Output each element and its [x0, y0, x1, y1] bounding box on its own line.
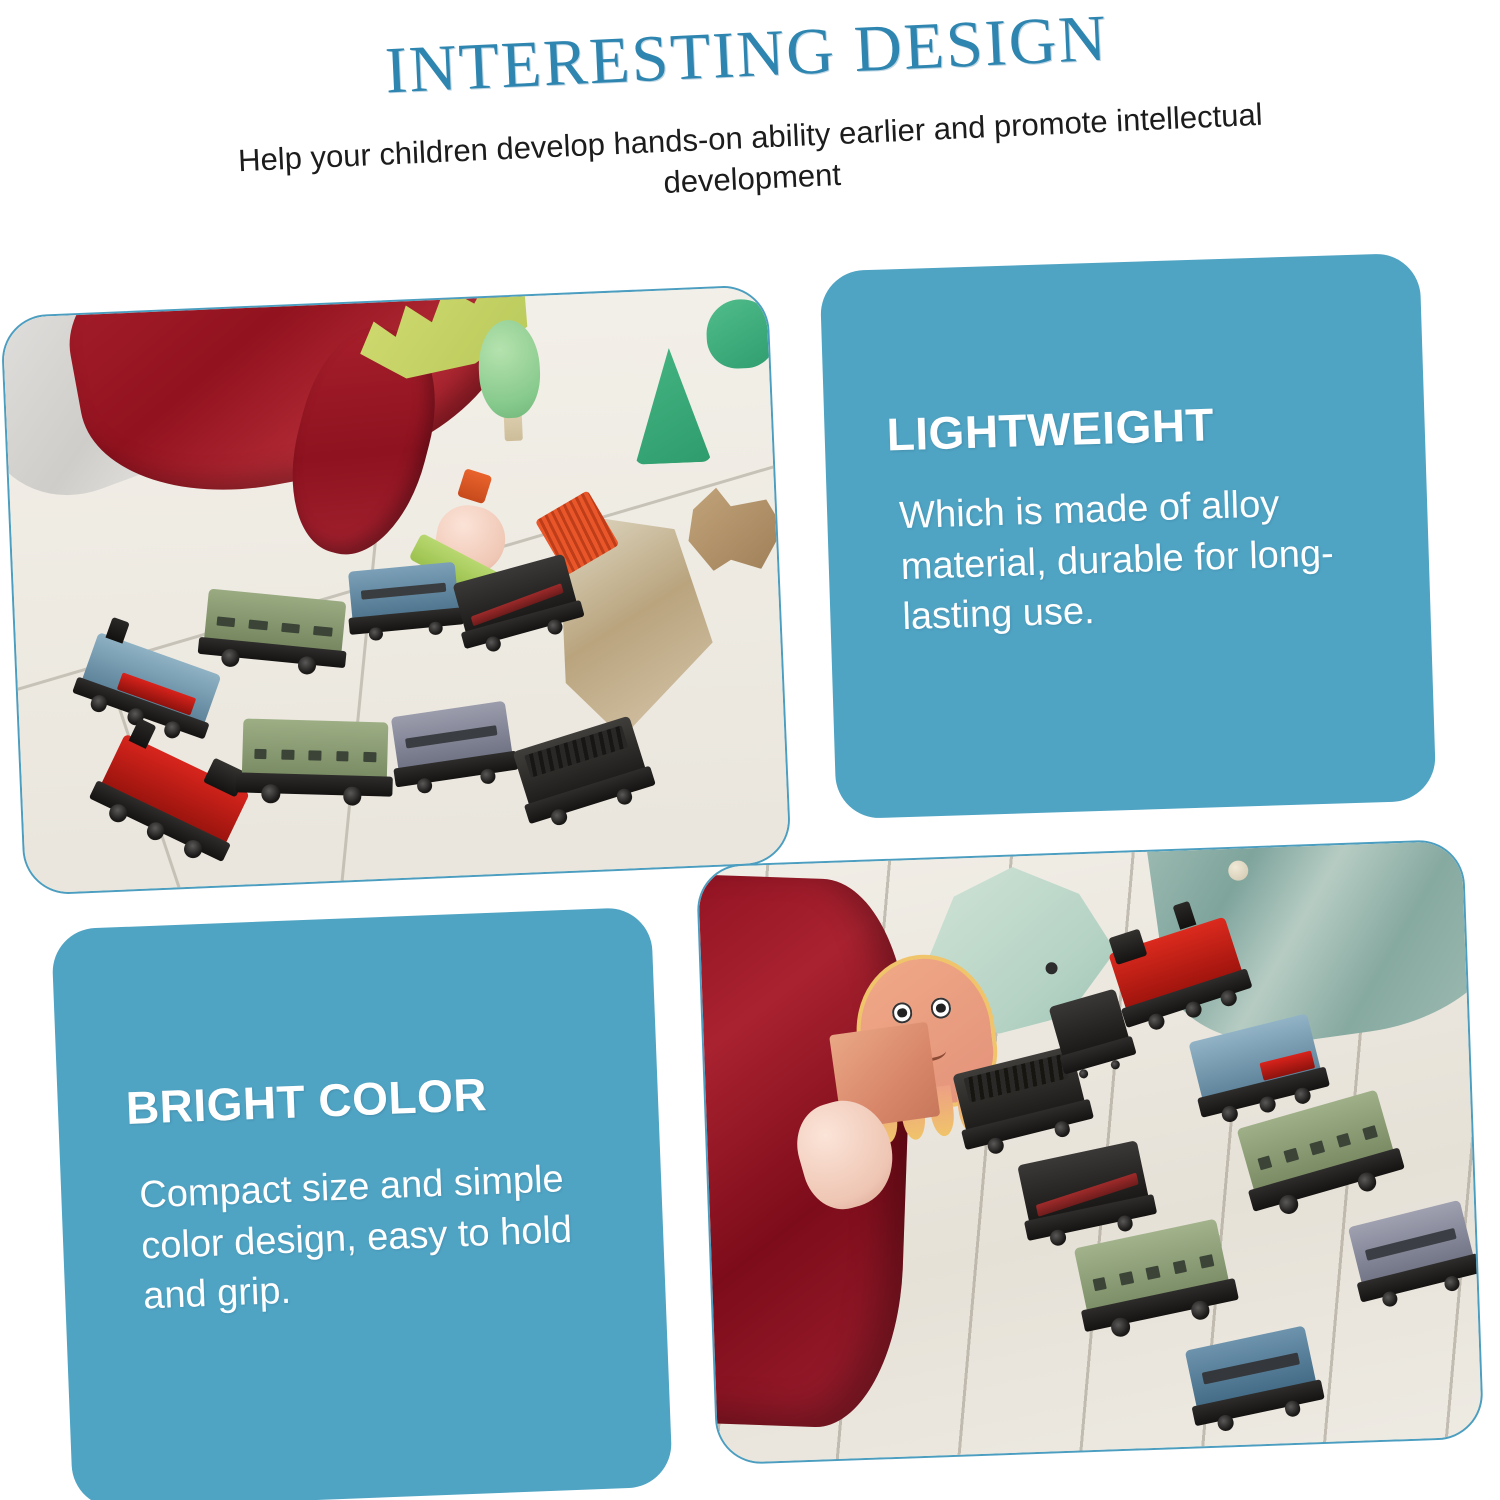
photo-content — [698, 841, 1482, 1463]
feature-card-lightweight: LIGHTWEIGHT Which is made of alloy mater… — [820, 253, 1437, 820]
wheel — [342, 786, 361, 805]
feature-card-bright-color: BRIGHT COLOR Compact size and simple col… — [51, 907, 673, 1500]
octopus-eye — [890, 1002, 913, 1025]
octopus-eye — [929, 997, 952, 1020]
photo-child-playing-with-trains — [0, 284, 792, 896]
page-subtitle: Help your children develop hands-on abil… — [150, 91, 1352, 227]
toy-tanker-blue — [348, 562, 459, 621]
photo-train-set-collection — [696, 839, 1484, 1465]
photo-content — [2, 286, 789, 893]
toy-carriage-green — [241, 718, 388, 780]
infographic-page: INTERESTING DESIGN Help your children de… — [0, 0, 1500, 1500]
card-heading-bright-color: BRIGHT COLOR — [125, 1071, 488, 1131]
chassis — [235, 772, 392, 796]
card-body-lightweight: Which is made of alloy material, durable… — [898, 476, 1378, 642]
card-heading-lightweight: LIGHTWEIGHT — [886, 401, 1215, 457]
header: INTERESTING DESIGN Help your children de… — [0, 0, 1500, 284]
wheel — [261, 784, 280, 803]
card-body-bright-color: Compact size and simple color design, ea… — [138, 1152, 623, 1322]
